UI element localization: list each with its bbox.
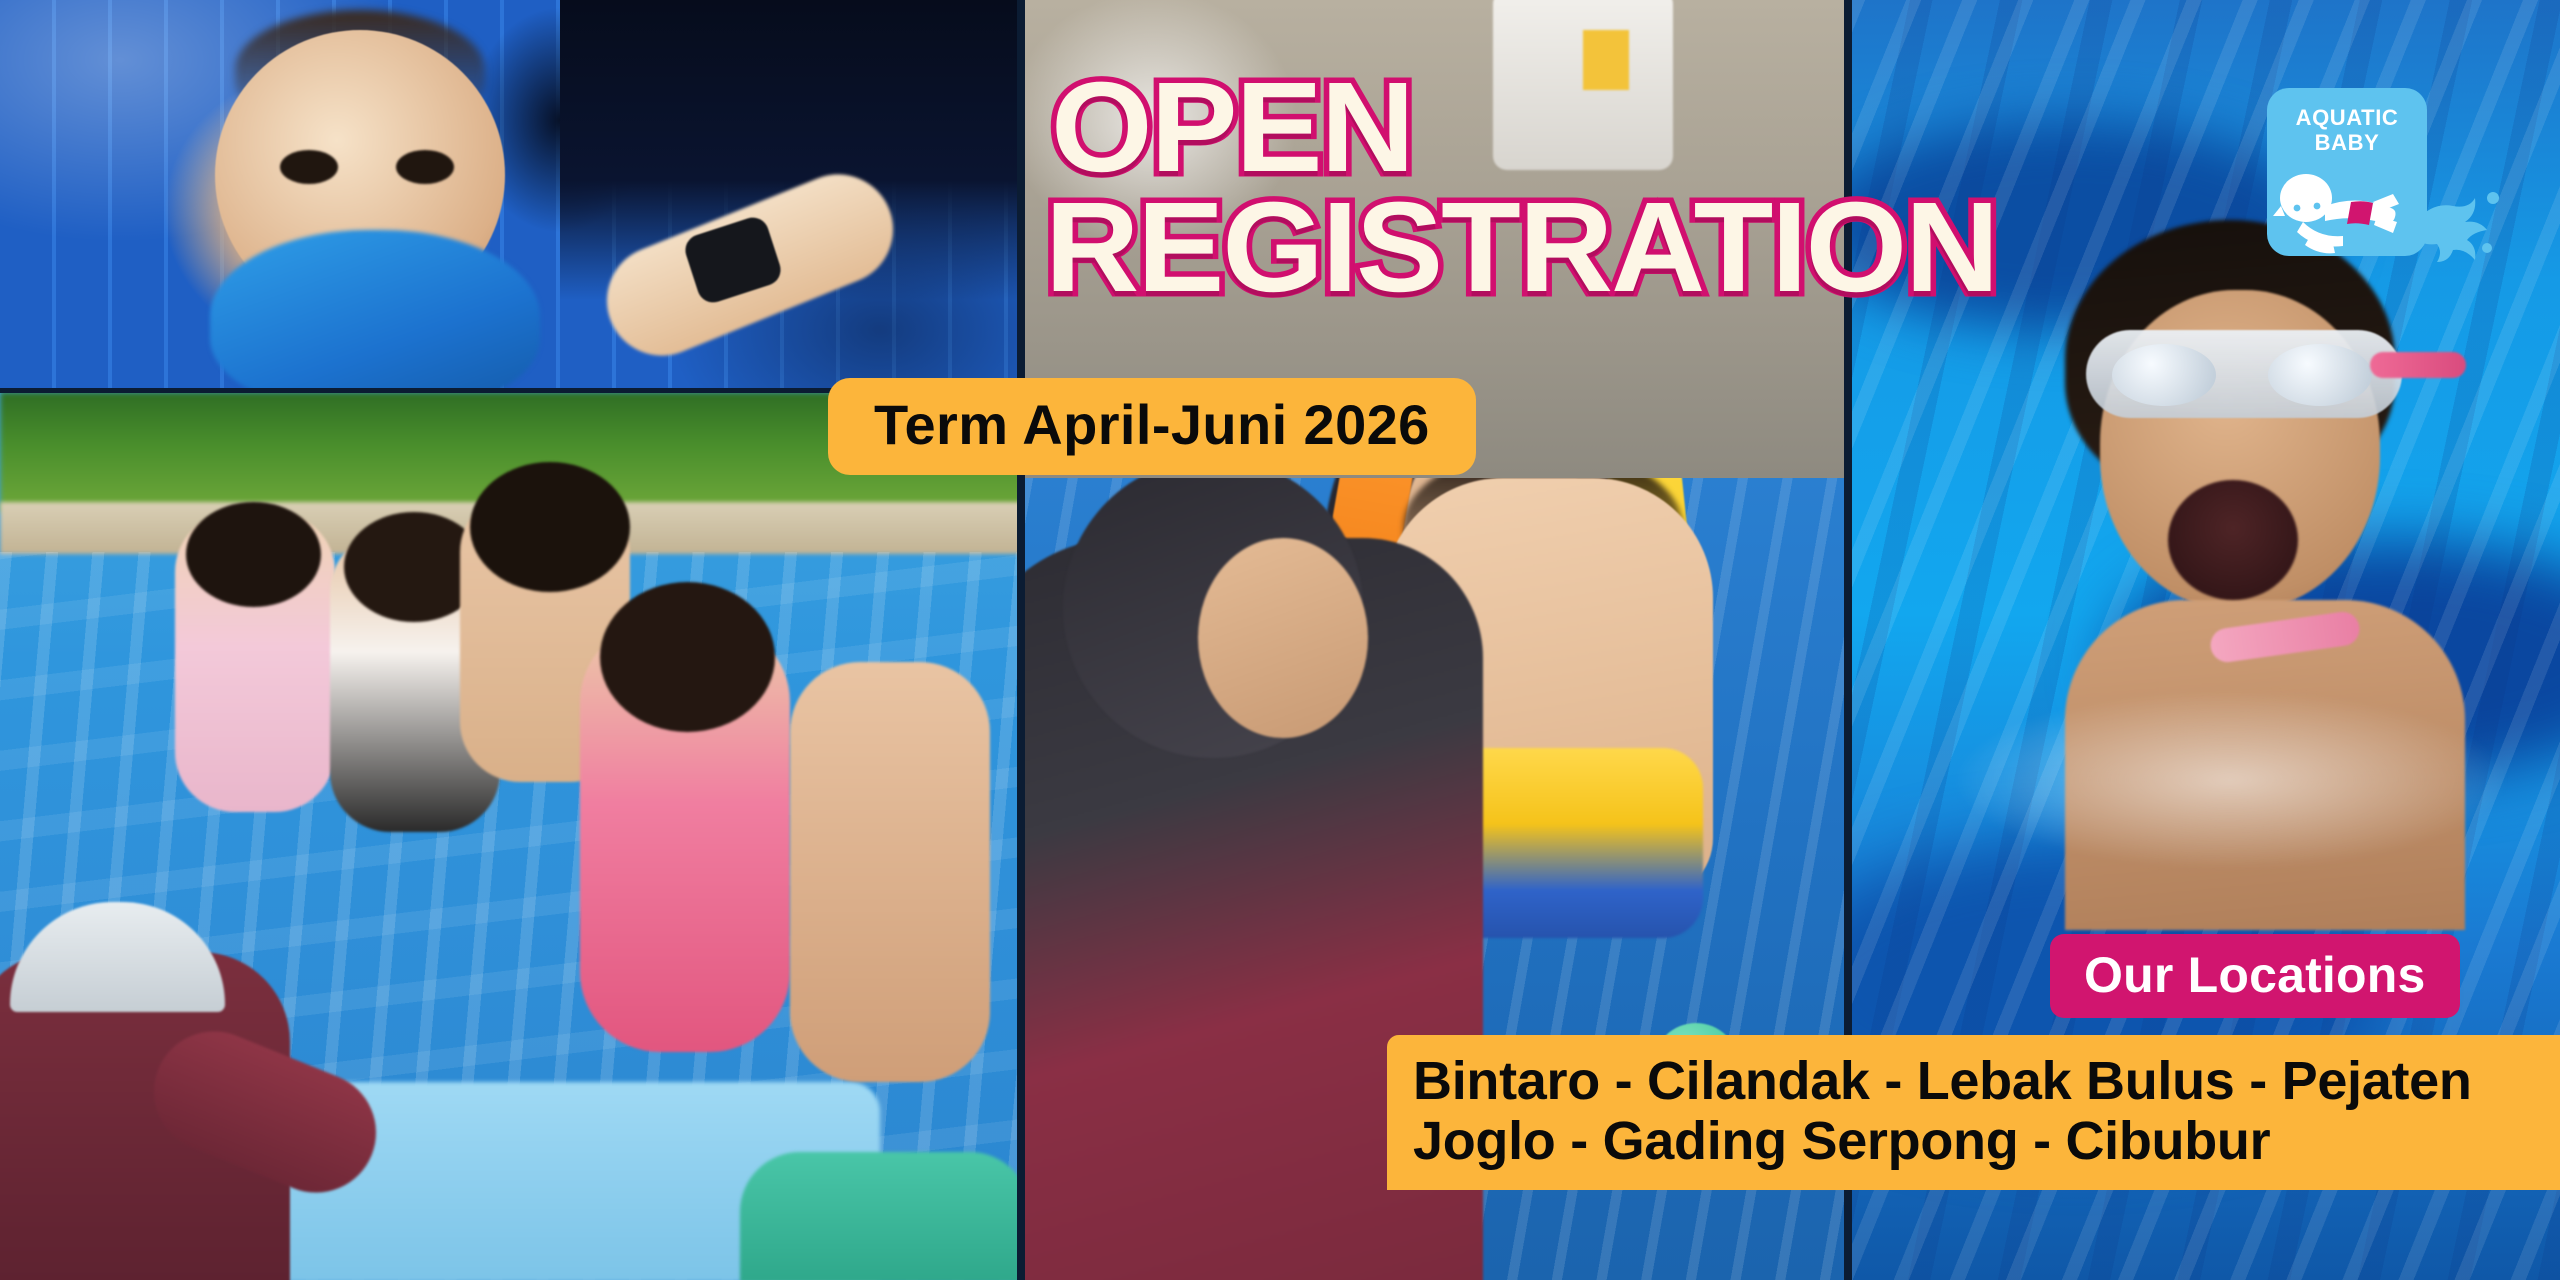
panel-divider-left xyxy=(1017,0,1025,1280)
promo-banner: OPEN REGISTRATION Term April-Juni 2026 A… xyxy=(0,0,2560,1280)
locations-badge: Our Locations xyxy=(2050,934,2460,1018)
baby-eye-right xyxy=(396,150,454,184)
goggle-lens-left xyxy=(2112,344,2216,406)
girl-open-mouth xyxy=(2168,480,2298,600)
locations-line-2: Joglo - Gading Serpong - Cibubur xyxy=(1413,1111,2560,1171)
teal-swimsuit xyxy=(740,1152,1023,1280)
toddler-5 xyxy=(790,662,990,1082)
toddler-1-head xyxy=(186,502,321,607)
locations-panel: Bintaro - Cilandak - Lebak Bulus - Pejat… xyxy=(1387,1035,2560,1190)
logo-line-1: AQUATIC xyxy=(2296,105,2399,130)
instructor-face xyxy=(1198,538,1368,738)
bucket-label xyxy=(1583,30,1629,90)
goggle-strap xyxy=(2370,352,2466,378)
baby-eye-left xyxy=(280,150,338,184)
swimming-baby-icon xyxy=(2273,172,2423,256)
logo-wordmark: AQUATIC BABY xyxy=(2267,106,2427,155)
locations-line-1: Bintaro - Cilandak - Lebak Bulus - Pejat… xyxy=(1413,1051,2560,1111)
toddler-3-head xyxy=(470,462,630,592)
water-splash-icon xyxy=(2415,180,2501,264)
term-badge: Term April-Juni 2026 xyxy=(828,378,1476,475)
baby-swim-vest xyxy=(210,230,540,392)
toddlers-pool-photo xyxy=(0,392,1023,1280)
goggle-lens-right xyxy=(2268,344,2372,406)
toddler-4-head xyxy=(600,582,775,732)
aquatic-baby-logo: AQUATIC BABY xyxy=(2267,88,2427,256)
term-badge-label: Term April-Juni 2026 xyxy=(874,392,1430,457)
locations-badge-label: Our Locations xyxy=(2084,946,2426,1004)
water-splash xyxy=(1950,690,2510,870)
baby-underwater-photo xyxy=(0,0,1023,392)
logo-line-2: BABY xyxy=(2315,130,2380,155)
wall-highlight xyxy=(1023,0,1353,300)
